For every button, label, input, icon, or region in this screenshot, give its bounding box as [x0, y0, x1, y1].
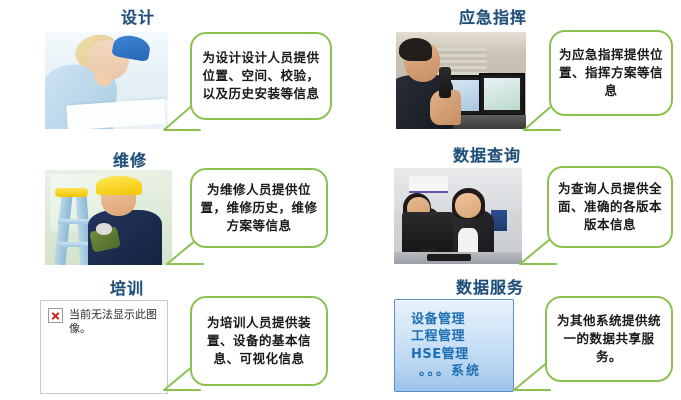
service-box-data-service: 设备管理 工程管理 HSE管理 。。。系统	[394, 299, 514, 392]
callout-emergency-command: 为应急指挥提供位置、指挥方案等信息	[549, 30, 673, 116]
callout-emergency-command-text: 为应急指挥提供位置、指挥方案等信息	[551, 46, 671, 100]
service-box-line-4: 。。。系统	[411, 363, 513, 380]
callout-data-service: 为其他系统提供统一的数据共享服务。	[545, 296, 673, 382]
diagram-canvas: 设计 设计人员伏案查看图纸照片 为设计设计人员提供位置、空间、校验，以及历史安装…	[0, 0, 681, 400]
service-box-line-2: 工程管理	[411, 328, 513, 345]
callout-data-service-text: 为其他系统提供统一的数据共享服务。	[547, 312, 671, 366]
section-title-data-service: 数据服务	[456, 274, 524, 298]
photo-data-query: 两名办公人员在电脑前查询数据照片	[394, 168, 522, 264]
photo-emergency-command: 指挥人员手持对讲机在监控屏前照片	[396, 32, 526, 129]
callout-maintenance-text: 为维修人员提供位置，维修历史，维修方案等信息	[192, 181, 326, 235]
callout-data-query-text: 为查询人员提供全面、准确的各版本版本信息	[549, 180, 671, 234]
section-title-design: 设计	[121, 4, 155, 28]
callout-training-text: 为培训人员提供装置、设备的基本信息、可视化信息	[192, 314, 326, 368]
callout-training: 为培训人员提供装置、设备的基本信息、可视化信息	[190, 296, 328, 386]
broken-image-text: 当前无法显示此图像。	[69, 308, 160, 336]
section-title-training: 培训	[110, 275, 144, 299]
callout-data-query: 为查询人员提供全面、准确的各版本版本信息	[547, 166, 673, 248]
broken-image-placeholder-training: 当前无法显示此图像。	[40, 300, 168, 394]
broken-image-icon	[48, 308, 63, 323]
service-box-line-3: HSE管理	[411, 346, 513, 363]
callout-maintenance: 为维修人员提供位置，维修历史，维修方案等信息	[190, 168, 328, 248]
callout-design-text: 为设计设计人员提供位置、空间、校验，以及历史安装等信息	[192, 49, 330, 103]
section-title-emergency-command: 应急指挥	[459, 4, 527, 28]
photo-design: 设计人员伏案查看图纸照片	[45, 32, 168, 129]
callout-design: 为设计设计人员提供位置、空间、校验，以及历史安装等信息	[190, 32, 332, 120]
section-title-maintenance: 维修	[113, 147, 147, 171]
photo-maintenance: 戴黄色安全帽的维修工人与梯子照片	[45, 170, 172, 265]
section-title-data-query: 数据查询	[453, 142, 521, 166]
service-box-line-1: 设备管理	[411, 311, 513, 328]
